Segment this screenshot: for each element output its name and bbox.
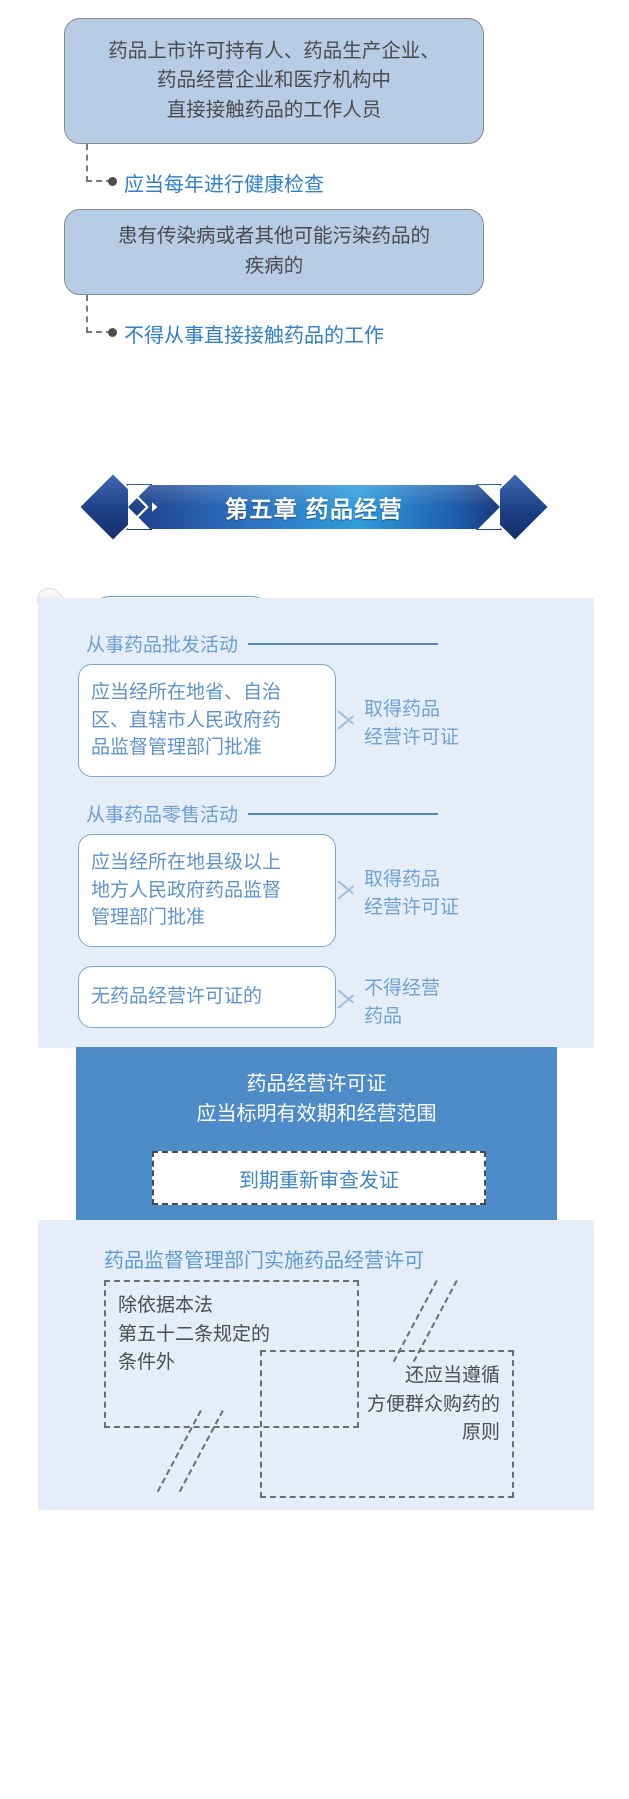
statement-box-2: 患有传染病或者其他可能污染药品的 疾病的 bbox=[64, 209, 484, 295]
highlight-badge: 到期重新审查发证 bbox=[152, 1151, 486, 1205]
caption-wholesale: 从事药品批发活动 bbox=[86, 630, 238, 657]
connector-vertical-line bbox=[86, 295, 88, 333]
principle-panel: 药品监督管理部门实施药品经营许可 除依据本法 第五十二条规定的 条件外 还应当遵… bbox=[38, 1220, 594, 1510]
chapter-banner: 第五章 药品经营 bbox=[88, 472, 540, 542]
condition-card-nolicense: 无药品经营许可证的 bbox=[78, 966, 336, 1028]
principle-box-right: 还应当遵循 方便群众购药的 原则 bbox=[260, 1350, 514, 1498]
outcome-nolicense: 不得经营 药品 bbox=[364, 975, 440, 1030]
connector-dot-2 bbox=[108, 328, 117, 337]
connector-dot-1 bbox=[108, 177, 117, 186]
condition-card-wholesale: 应当经所在地省、自治 区、直辖市人民政府药 品监督管理部门批准 bbox=[78, 664, 336, 777]
chapter-title: 第五章 药品经营 bbox=[225, 490, 403, 524]
condition-card-retail: 应当经所在地县级以上 地方人民政府药品监督 管理部门批准 bbox=[78, 834, 336, 947]
result-text-2: 不得从事直接接触药品的工作 bbox=[124, 319, 384, 348]
caption-row-retail: 从事药品零售活动 bbox=[86, 800, 438, 827]
caption-row-wholesale: 从事药品批发活动 bbox=[86, 630, 438, 657]
chevron-icon-2 bbox=[338, 872, 358, 906]
outcome-retail: 取得药品 经营许可证 bbox=[364, 866, 459, 921]
highlight-block: 药品经营许可证 应当标明有效期和经营范围 到期重新审查发证 bbox=[76, 1047, 557, 1221]
caption-rule bbox=[248, 643, 438, 645]
connector-1 bbox=[86, 144, 112, 182]
caption-rule bbox=[248, 813, 438, 815]
connector-vertical-line bbox=[86, 144, 88, 182]
highlight-text: 药品经营许可证 应当标明有效期和经营范围 bbox=[76, 1069, 557, 1129]
statement-box-1: 药品上市许可持有人、药品生产企业、 药品经营企业和医疗机构中 直接接触药品的工作… bbox=[64, 18, 484, 144]
connector-2 bbox=[86, 295, 112, 333]
chevron-icon-3 bbox=[338, 981, 358, 1015]
caption-retail: 从事药品零售活动 bbox=[86, 800, 238, 827]
outcome-wholesale: 取得药品 经营许可证 bbox=[364, 696, 459, 751]
license-panel: 从事药品批发活动 应当经所在地省、自治 区、直辖市人民政府药 品监督管理部门批准… bbox=[38, 598, 594, 1048]
banner-body: 第五章 药品经营 bbox=[132, 485, 496, 529]
chevron-icon-1 bbox=[338, 702, 358, 736]
principle-title: 药品监督管理部门实施药品经营许可 bbox=[104, 1244, 424, 1273]
result-text-1: 应当每年进行健康检查 bbox=[124, 168, 324, 197]
